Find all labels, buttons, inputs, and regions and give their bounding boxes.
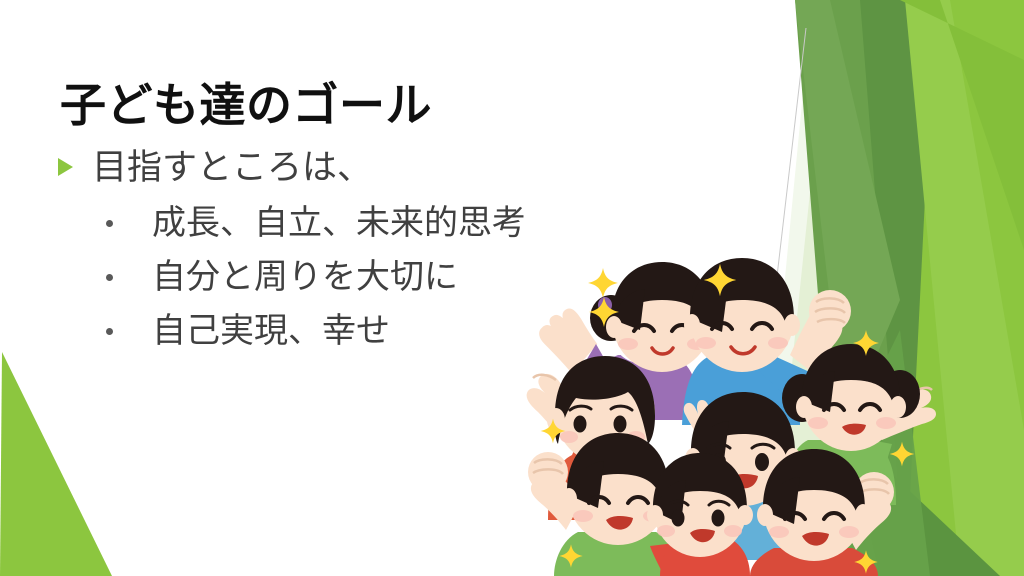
- star-icon: [588, 268, 618, 298]
- child-figure: [527, 356, 664, 520]
- bullet-level1: 目指すところは、: [58, 146, 578, 191]
- slide-canvas: 子ども達のゴール 目指すところは、 成長、自立、未来的思考 自分と周りを大切に: [0, 0, 1024, 576]
- bullet-level2: 成長、自立、未来的思考: [58, 201, 578, 245]
- star-icon: [541, 419, 566, 444]
- child-figure: [528, 433, 682, 576]
- child-figure: [647, 453, 753, 576]
- star-icon: [559, 544, 582, 567]
- dot-bullet-icon: [58, 201, 152, 227]
- child-figure: [750, 449, 894, 576]
- star-icon: [890, 442, 915, 467]
- dot-bullet-icon: [58, 255, 152, 281]
- star-icon: [854, 550, 877, 573]
- slide-title: 子ども達のゴール: [60, 79, 432, 132]
- child-figure: [782, 344, 936, 505]
- bullet-level2: 自己実現、幸せ: [58, 309, 578, 353]
- bullet-level2-label: 成長、自立、未来的思考: [152, 201, 526, 245]
- child-figure: [682, 392, 806, 560]
- dot-bullet-icon: [58, 309, 152, 335]
- star-icon: [704, 264, 737, 297]
- child-figure: [682, 258, 851, 425]
- bullet-level2: 自分と周りを大切に: [58, 255, 578, 299]
- triangle-bullet-icon: [58, 146, 92, 176]
- bullet-level2-label: 自己実現、幸せ: [152, 309, 390, 353]
- star-icon: [853, 330, 879, 356]
- star-icon: [589, 297, 619, 327]
- bullet-level1-label: 目指すところは、: [92, 146, 372, 191]
- bullet-level2-label: 自分と周りを大切に: [152, 255, 458, 299]
- bullet-content: 目指すところは、 成長、自立、未来的思考 自分と周りを大切に 自己実現、幸せ: [58, 146, 578, 353]
